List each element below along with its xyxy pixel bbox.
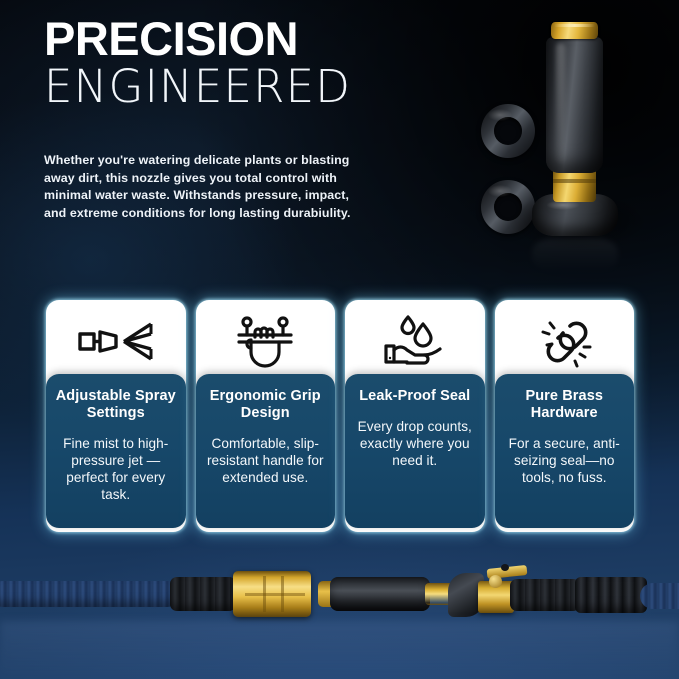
card-panel: Adjustable Spray Settings Fine mist to h… <box>46 374 186 528</box>
card-description: Fine mist to high-pressure jet — perfect… <box>54 436 178 504</box>
nozzle-brass-collar <box>551 22 598 39</box>
washer-inner-hole <box>494 117 522 145</box>
expandable-hose-left <box>0 581 180 607</box>
chain-link-icon <box>495 300 635 384</box>
nozzle-brass-neck <box>553 168 596 202</box>
card-description: Comfortable, slip-resistant handle for e… <box>204 436 328 487</box>
nozzle-reflection <box>532 238 618 272</box>
brass-detail-line <box>245 593 305 596</box>
headline-line-1: PRECISION <box>44 16 464 62</box>
nozzle-body-right <box>330 577 430 611</box>
card-panel: Pure Brass Hardware For a secure, anti-s… <box>495 374 635 528</box>
feature-card-adjustable-spray[interactable]: Adjustable Spray Settings Fine mist to h… <box>46 300 186 532</box>
photo-surface-reflection <box>0 621 679 679</box>
card-title: Adjustable Spray Settings <box>54 388 178 422</box>
card-description: For a secure, anti-seizing seal—no tools… <box>503 436 627 487</box>
nozzle-product-image <box>524 22 628 252</box>
card-title: Pure Brass Hardware <box>503 388 627 422</box>
feature-card-ergonomic-grip[interactable]: Ergonomic Grip Design Comfortable, slip-… <box>196 300 336 532</box>
feature-card-leak-proof-seal[interactable]: Leak-Proof Seal Every drop counts, exact… <box>345 300 485 532</box>
hose-bellows-right <box>575 577 647 613</box>
card-title: Leak-Proof Seal <box>353 388 477 405</box>
hose-grip-left <box>170 577 236 611</box>
body-copy-text: Whether you're watering delicate plants … <box>44 152 374 222</box>
expandable-hose-right <box>640 583 679 609</box>
brass-fitting-left <box>233 571 311 617</box>
nozzle-body <box>546 37 603 173</box>
valve-knob <box>489 575 502 588</box>
card-panel: Ergonomic Grip Design Comfortable, slip-… <box>196 374 336 528</box>
feature-cards: Adjustable Spray Settings Fine mist to h… <box>46 300 634 532</box>
bottom-product-photo <box>0 529 679 679</box>
card-description: Every drop counts, exactly where you nee… <box>353 419 477 470</box>
hose-grip-right <box>510 579 580 611</box>
hand-grip-icon <box>196 300 336 384</box>
spray-nozzle-icon <box>46 300 186 384</box>
valve-port-hole <box>501 564 509 571</box>
water-drop-hand-icon <box>345 300 485 384</box>
card-title: Ergonomic Grip Design <box>204 388 328 422</box>
feature-card-pure-brass[interactable]: Pure Brass Hardware For a secure, anti-s… <box>495 300 635 532</box>
headline-block: PRECISION ENGINEERED <box>44 16 464 111</box>
washer-highlight <box>488 109 512 121</box>
body-copy: Whether you're watering delicate plants … <box>44 152 374 222</box>
headline-line-2: ENGINEERED <box>44 64 464 111</box>
infographic-canvas: PRECISION ENGINEERED Whether you're wate… <box>0 0 679 679</box>
card-panel: Leak-Proof Seal Every drop counts, exact… <box>345 374 485 528</box>
